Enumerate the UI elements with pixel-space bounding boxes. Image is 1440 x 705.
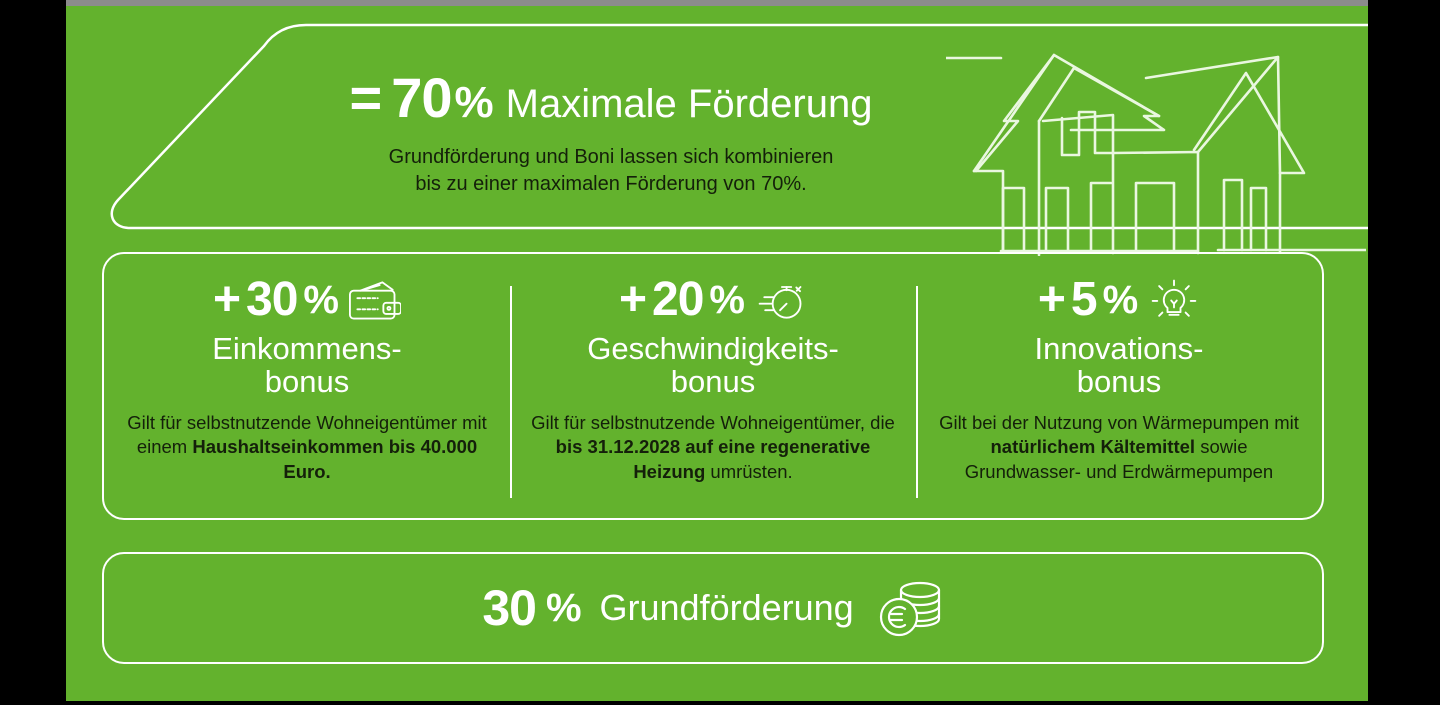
bonus-percent: %	[303, 280, 339, 320]
bonus-name-line1: Geschwindigkeits-	[526, 332, 900, 365]
hero-subtitle-line2: bis zu einer maximalen Förderung von 70%…	[216, 171, 1006, 198]
hero-percent: %	[455, 78, 494, 127]
bonus-name: Einkommens- bonus	[120, 332, 494, 399]
bonus-sign: +	[213, 276, 240, 324]
stopwatch-icon	[755, 278, 807, 322]
bonus-name-line2: bonus	[120, 365, 494, 398]
hero-equals: =	[350, 66, 382, 129]
bonus-column-einkommensbonus: +30% Einkommens- bonus Gil	[104, 254, 510, 518]
bonus-name-line2: bonus	[526, 365, 900, 398]
bonus-name-line1: Einkommens-	[120, 332, 494, 365]
bonus-percent: %	[709, 280, 745, 320]
hero-value: 70	[391, 66, 451, 129]
bonus-description: Gilt für selbstnutzende Wohneigentümer, …	[526, 411, 900, 484]
base-percent: %	[546, 586, 582, 631]
bonus-name: Innovations- bonus	[932, 332, 1306, 399]
bonus-headline: +5%	[932, 276, 1306, 324]
bonus-card: +30% Einkommens- bonus Gil	[102, 252, 1324, 520]
bonus-sign: +	[1038, 276, 1065, 324]
hero-title: =70%Maximale Förderung	[216, 70, 1006, 126]
bonus-name-line1: Innovations-	[932, 332, 1306, 365]
lightbulb-icon	[1148, 278, 1200, 322]
bonus-description: Gilt für selbstnutzende Wohneigentümer m…	[120, 411, 494, 484]
bonus-percent: %	[1103, 280, 1139, 320]
infographic-root: =70%Maximale Förderung Grundförderung un…	[0, 0, 1440, 705]
hero-text-block: =70%Maximale Förderung Grundförderung un…	[216, 70, 1006, 198]
wallet-icon	[349, 278, 401, 322]
bonus-name: Geschwindigkeits- bonus	[526, 332, 900, 399]
bonus-column-innovationsbonus: +5%	[916, 254, 1322, 518]
top-gray-bar	[66, 0, 1368, 6]
euro-coins-icon	[878, 577, 944, 639]
bonus-value: 20	[652, 276, 703, 324]
hero-subtitle: Grundförderung und Boni lassen sich komb…	[216, 144, 1006, 198]
bonus-name-line2: bonus	[932, 365, 1306, 398]
bonus-headline: +30%	[120, 276, 494, 324]
bonus-value: 30	[246, 276, 297, 324]
base-value: 30	[482, 579, 536, 637]
bonus-value: 5	[1071, 276, 1097, 324]
hero-label: Maximale Förderung	[506, 82, 873, 126]
hero-subtitle-line1: Grundförderung und Boni lassen sich komb…	[216, 144, 1006, 171]
bonus-headline: +20%	[526, 276, 900, 324]
house-line-art-icon	[946, 28, 1366, 256]
base-funding-card: 30%Grundförderung	[102, 552, 1324, 664]
bonus-description: Gilt bei der Nutzung von Wärmepumpen mit…	[932, 411, 1306, 484]
bonus-column-geschwindigkeitsbonus: +20% Geschwindigkeits	[510, 254, 916, 518]
hero-section: =70%Maximale Förderung Grundförderung un…	[66, 22, 1368, 232]
base-label: Grundförderung	[600, 587, 854, 629]
bonus-sign: +	[619, 276, 646, 324]
